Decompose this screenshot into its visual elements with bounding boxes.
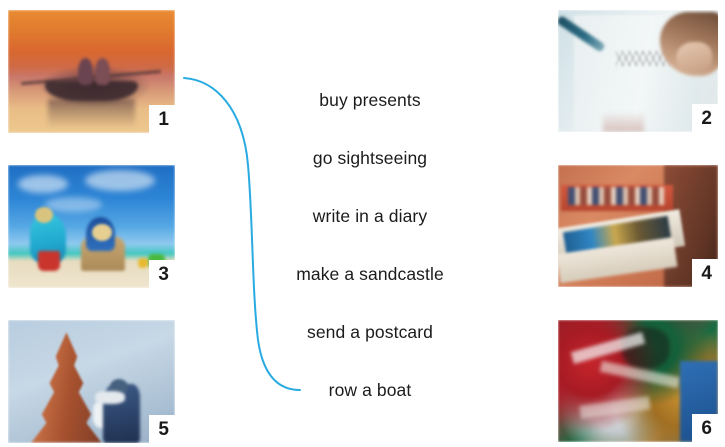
phrase-make-a-sandcastle[interactable]: make a sandcastle bbox=[240, 246, 500, 304]
photo-card-3[interactable]: 3 bbox=[8, 165, 175, 288]
photo-number-badge: 1 bbox=[149, 105, 175, 133]
phrase-go-sightseeing[interactable]: go sightseeing bbox=[240, 130, 500, 188]
photo-number-badge: 4 bbox=[692, 259, 718, 287]
photo-number-badge: 6 bbox=[692, 414, 718, 442]
photo-card-1[interactable]: 1 bbox=[8, 10, 175, 133]
photo-card-6[interactable]: 6 bbox=[558, 320, 718, 442]
phrase-list: buy presents go sightseeing write in a d… bbox=[240, 72, 500, 420]
phrase-send-a-postcard[interactable]: send a postcard bbox=[240, 304, 500, 362]
photo-number-badge: 5 bbox=[149, 415, 175, 443]
matching-worksheet: 1 3 5 bbox=[0, 0, 725, 447]
photo-card-2[interactable]: 2 bbox=[558, 10, 718, 132]
photo-card-4[interactable]: 4 bbox=[558, 165, 718, 287]
photo-number-badge: 3 bbox=[149, 260, 175, 288]
phrase-buy-presents[interactable]: buy presents bbox=[240, 72, 500, 130]
phrase-write-in-a-diary[interactable]: write in a diary bbox=[240, 188, 500, 246]
phrase-row-a-boat[interactable]: row a boat bbox=[240, 362, 500, 420]
photo-card-5[interactable]: 5 bbox=[8, 320, 175, 443]
photo-number-badge: 2 bbox=[692, 104, 718, 132]
